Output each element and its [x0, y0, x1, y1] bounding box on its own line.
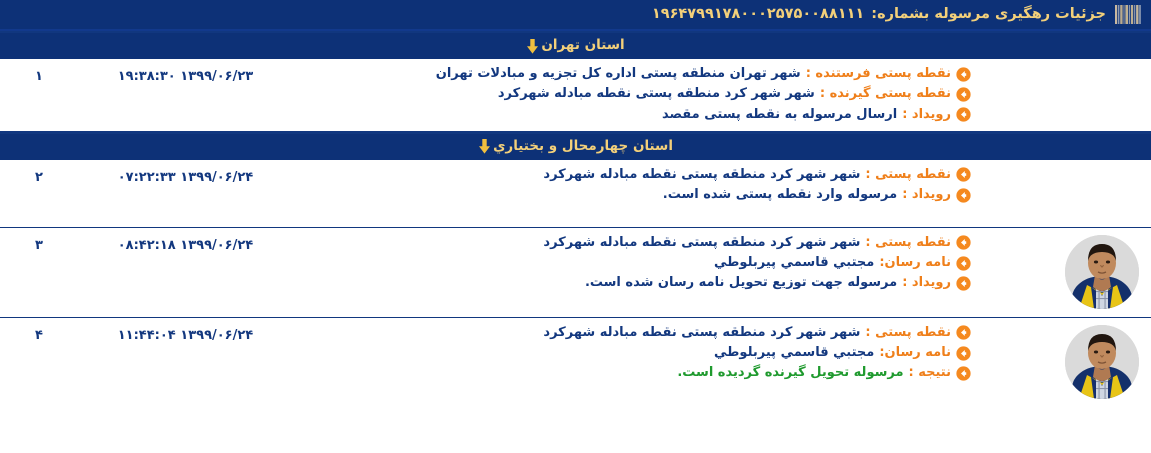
- detail-label: رویداد :: [902, 275, 951, 291]
- barcode-icon: [1106, 5, 1143, 24]
- detail-label: رویداد :: [902, 107, 951, 123]
- photo-cell: [971, 235, 1151, 309]
- detail-value: مرسوله وارد نقطه پستی شده است.: [663, 187, 897, 203]
- back-arrow-icon: [956, 276, 971, 291]
- detail-line: رویداد :مرسوله جهت توزیع تحویل نامه رسان…: [585, 275, 971, 291]
- detail-label: نتیجه :: [909, 365, 951, 381]
- event-index: ۳: [0, 235, 78, 253]
- tracking-details-page: جزئیات رهگیری مرسوله بشماره: ۱۹۶۴۷۹۹۱۷۸۰…: [0, 0, 1151, 453]
- detail-line: نقطه پستی گیرنده :شهر شهر کرد منطقه پستی…: [498, 86, 971, 102]
- back-arrow-icon: [956, 67, 971, 82]
- back-arrow-icon: [956, 325, 971, 340]
- details-cell: نقطه پستی :شهر شهر کرد منطقه پستی نقطه م…: [293, 167, 971, 204]
- detail-line: نتیجه :مرسوله تحویل گیرنده گردیده است.: [677, 365, 971, 381]
- page-header: جزئیات رهگیری مرسوله بشماره: ۱۹۶۴۷۹۹۱۷۸۰…: [0, 0, 1151, 31]
- province-label: استان تهران: [541, 39, 624, 53]
- event-datetime: ۰۸:۴۲:۱۸ ۱۳۹۹/۰۶/۲۴: [78, 235, 293, 253]
- event-datetime: ۱۱:۴۴:۰۴ ۱۳۹۹/۰۶/۲۴: [78, 325, 293, 343]
- back-arrow-icon: [956, 107, 971, 122]
- tracking-number: ۱۹۶۴۷۹۹۱۷۸۰۰۰۲۵۷۵۰۰۸۸۱۱۱: [652, 7, 864, 22]
- postman-avatar: [1065, 325, 1139, 399]
- detail-value: شهر تهران منطقه پستی اداره کل تجزیه و مب…: [436, 66, 801, 82]
- province-band-2: استان چهارمحال و بختیاري: [0, 134, 1151, 160]
- event-row: نقطه پستی :شهر شهر کرد منطقه پستی نقطه م…: [0, 160, 1151, 228]
- photo-cell: [971, 325, 1151, 399]
- detail-value: مجتبي قاسمي پیربلوطي: [714, 345, 874, 361]
- event-row: نقطه پستی فرستنده :شهر تهران منطقه پستی …: [0, 59, 1151, 132]
- detail-line: نقطه پستی فرستنده :شهر تهران منطقه پستی …: [436, 66, 971, 82]
- detail-line: رویداد :مرسوله وارد نقطه پستی شده است.: [663, 187, 971, 203]
- details-cell: نقطه پستی :شهر شهر کرد منطقه پستی نقطه م…: [293, 325, 971, 382]
- detail-value: شهر شهر کرد منطقه پستی نقطه مبادله شهرکر…: [543, 325, 860, 341]
- province-label: استان چهارمحال و بختیاري: [493, 140, 673, 154]
- event-datetime: ۱۹:۳۸:۳۰ ۱۳۹۹/۰۶/۲۳: [78, 66, 293, 84]
- detail-value: ارسال مرسوله به نقطه پستی مقصد: [662, 107, 897, 123]
- detail-label: نامه رسان:: [879, 345, 951, 361]
- arrow-down-icon: [478, 139, 491, 154]
- arrow-down-icon: [526, 39, 539, 54]
- detail-line: نقطه پستی :شهر شهر کرد منطقه پستی نقطه م…: [543, 235, 971, 251]
- back-arrow-icon: [956, 256, 971, 271]
- detail-value: شهر شهر کرد منطقه پستی نقطه مبادله شهرکر…: [543, 235, 860, 251]
- event-index: ۲: [0, 167, 78, 185]
- detail-line: نامه رسان:مجتبي قاسمي پیربلوطي: [714, 255, 971, 271]
- detail-value: مرسوله جهت توزیع تحویل نامه رسان شده است…: [585, 275, 897, 291]
- detail-line: نقطه پستی :شهر شهر کرد منطقه پستی نقطه م…: [543, 167, 971, 183]
- detail-label: نقطه پستی :: [865, 325, 951, 341]
- detail-label: نقطه پستی :: [865, 235, 951, 251]
- back-arrow-icon: [956, 366, 971, 381]
- detail-value: مجتبي قاسمي پیربلوطي: [714, 255, 874, 271]
- event-index: ۴: [0, 325, 78, 343]
- detail-label: نقطه پستی فرستنده :: [806, 66, 951, 82]
- back-arrow-icon: [956, 346, 971, 361]
- sections-container: استان تهراننقطه پستی فرستنده :شهر تهران …: [0, 31, 1151, 407]
- back-arrow-icon: [956, 87, 971, 102]
- photo-cell: [971, 66, 1151, 118]
- back-arrow-icon: [956, 167, 971, 182]
- photo-cell: [971, 167, 1151, 219]
- detail-line: نامه رسان:مجتبي قاسمي پیربلوطي: [714, 345, 971, 361]
- detail-label: نقطه پستی :: [865, 167, 951, 183]
- event-row: نقطه پستی :شهر شهر کرد منطقه پستی نقطه م…: [0, 318, 1151, 407]
- event-row: نقطه پستی :شهر شهر کرد منطقه پستی نقطه م…: [0, 228, 1151, 318]
- detail-value: مرسوله تحویل گیرنده گردیده است.: [677, 365, 903, 381]
- detail-line: رویداد :ارسال مرسوله به نقطه پستی مقصد: [662, 107, 971, 123]
- postman-avatar: [1065, 235, 1139, 309]
- details-cell: نقطه پستی فرستنده :شهر تهران منطقه پستی …: [293, 66, 971, 123]
- back-arrow-icon: [956, 188, 971, 203]
- event-index: ۱: [0, 66, 78, 84]
- detail-label: نامه رسان:: [879, 255, 951, 271]
- detail-value: شهر شهر کرد منطقه پستی نقطه مبادله شهرکر…: [543, 167, 860, 183]
- detail-line: نقطه پستی :شهر شهر کرد منطقه پستی نقطه م…: [543, 325, 971, 341]
- page-title: جزئیات رهگیری مرسوله بشماره:: [871, 7, 1106, 22]
- detail-label: رویداد :: [902, 187, 951, 203]
- detail-label: نقطه پستی گیرنده :: [820, 86, 951, 102]
- event-datetime: ۰۷:۲۲:۳۳ ۱۳۹۹/۰۶/۲۴: [78, 167, 293, 185]
- province-band-1: استان تهران: [0, 33, 1151, 59]
- detail-value: شهر شهر کرد منطقه پستی نقطه مبادله شهرکر…: [498, 86, 815, 102]
- back-arrow-icon: [956, 235, 971, 250]
- details-cell: نقطه پستی :شهر شهر کرد منطقه پستی نقطه م…: [293, 235, 971, 292]
